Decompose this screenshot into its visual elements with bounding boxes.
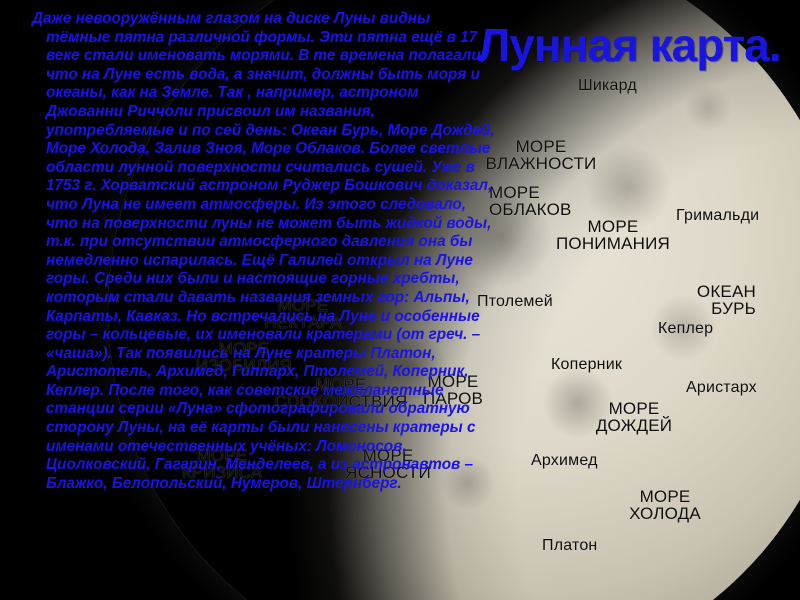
map-label-arhimed: Архимед bbox=[531, 453, 598, 469]
map-label-okean-bur: ОКЕАН БУРЬ bbox=[697, 283, 756, 318]
body-text: Даже невооружённым глазом на диске Луны … bbox=[32, 10, 498, 493]
map-label-more-vlazh: МОРЕ ВЛАЖНОСТИ bbox=[486, 138, 597, 173]
map-label-more-dozhd: МОРЕ ДОЖДЕЙ bbox=[596, 400, 672, 435]
body-text-rest: тёмные пятна различной формы. Эти пятна … bbox=[32, 29, 498, 494]
map-label-platon: Платон bbox=[542, 538, 597, 554]
map-label-aristarh: Аристарх bbox=[686, 380, 757, 396]
map-label-more-oblakov: МОРЕ ОБЛАКОВ bbox=[489, 184, 572, 219]
body-text-first-line: Даже невооружённым глазом на диске Луны … bbox=[32, 10, 498, 29]
map-label-kopernik: Коперник bbox=[551, 357, 622, 373]
page-title: Лунная карта. bbox=[478, 18, 781, 72]
map-label-more-holoda: МОРЕ ХОЛОДА bbox=[629, 488, 701, 523]
map-label-grimaldi: Гримальди bbox=[676, 208, 759, 224]
map-label-kepler: Кеплер bbox=[658, 321, 713, 337]
map-label-more-ponim: МОРЕ ПОНИМАНИЯ bbox=[556, 218, 670, 253]
map-label-shikard: Шикард bbox=[578, 78, 637, 94]
slide-canvas: ШикардТихоМОРЕ ВЛАЖНОСТИМОРЕ ОБЛАКОВМОРЕ… bbox=[0, 0, 800, 600]
